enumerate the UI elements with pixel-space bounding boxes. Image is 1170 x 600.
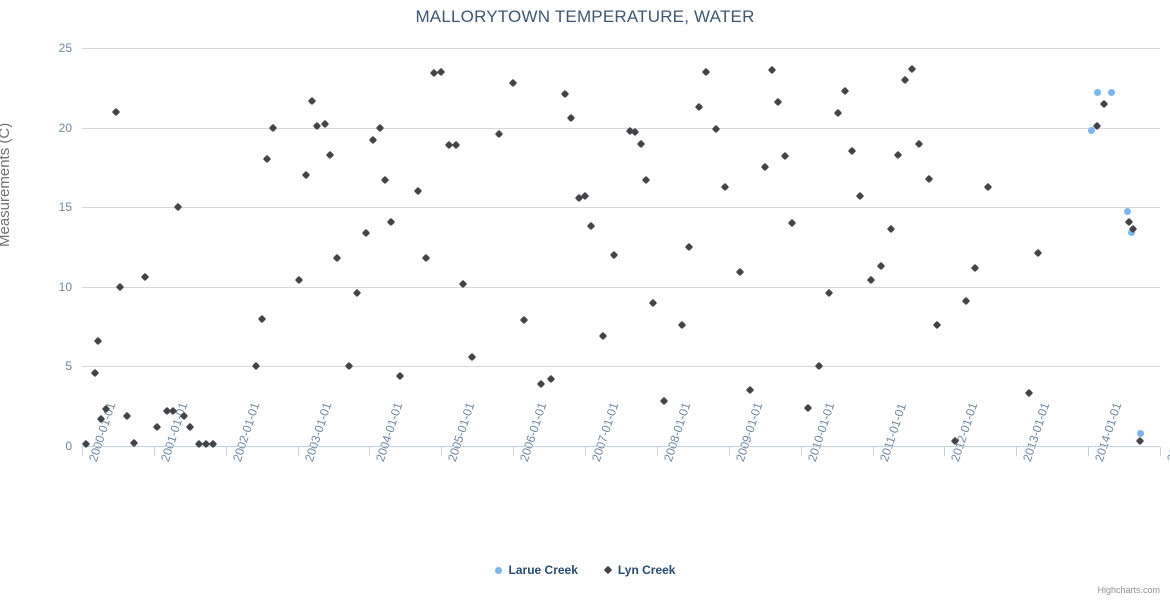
data-point[interactable] (908, 64, 916, 72)
x-tick-mark (513, 447, 514, 456)
data-point[interactable] (102, 405, 110, 413)
data-point[interactable] (186, 423, 194, 431)
data-point[interactable] (1034, 249, 1042, 257)
data-point[interactable] (970, 263, 978, 271)
y-tick-label: 10 (12, 280, 72, 294)
data-point[interactable] (1025, 389, 1033, 397)
data-point[interactable] (788, 219, 796, 227)
data-point[interactable] (1136, 437, 1144, 445)
y-tick-label: 0 (12, 439, 72, 453)
data-point[interactable] (694, 103, 702, 111)
data-point[interactable] (886, 225, 894, 233)
data-point[interactable] (867, 276, 875, 284)
data-point[interactable] (387, 217, 395, 225)
data-point[interactable] (1100, 99, 1108, 107)
data-point[interactable] (933, 321, 941, 329)
data-point[interactable] (437, 68, 445, 76)
x-tick-mark (729, 447, 730, 456)
data-point[interactable] (637, 139, 645, 147)
x-tick-mark (154, 447, 155, 456)
data-point[interactable] (773, 98, 781, 106)
data-point[interactable] (721, 182, 729, 190)
data-point[interactable] (781, 152, 789, 160)
data-point[interactable] (962, 297, 970, 305)
legend-circle-icon (495, 567, 502, 574)
data-point[interactable] (642, 176, 650, 184)
legend-label: Larue Creek (509, 563, 578, 577)
data-point[interactable] (678, 321, 686, 329)
data-point[interactable] (834, 109, 842, 117)
data-point[interactable] (263, 155, 271, 163)
data-point[interactable] (495, 130, 503, 138)
data-point[interactable] (660, 397, 668, 405)
data-point[interactable] (97, 415, 105, 423)
data-point[interactable] (451, 141, 459, 149)
data-point[interactable] (169, 407, 177, 415)
data-point[interactable] (520, 316, 528, 324)
gridline-y-10 (82, 287, 1160, 288)
data-point[interactable] (566, 114, 574, 122)
data-point[interactable] (561, 90, 569, 98)
chart-container: MALLORYTOWN TEMPERATURE, WATER Measureme… (0, 0, 1170, 600)
data-point[interactable] (252, 362, 260, 370)
data-point[interactable] (768, 66, 776, 74)
data-point[interactable] (112, 107, 120, 115)
gridline-y-5 (82, 366, 1160, 367)
data-point[interactable] (467, 353, 475, 361)
y-tick-label: 25 (12, 41, 72, 55)
data-point[interactable] (951, 437, 959, 445)
y-tick-label: 20 (12, 121, 72, 135)
y-tick-label: 15 (12, 200, 72, 214)
data-point[interactable] (814, 362, 822, 370)
data-point[interactable] (395, 372, 403, 380)
x-tick-mark (657, 447, 658, 456)
x-tick-mark (1160, 447, 1161, 456)
data-point[interactable] (1094, 89, 1101, 96)
data-point[interactable] (702, 68, 710, 76)
data-point[interactable] (841, 87, 849, 95)
x-tick-mark (1088, 447, 1089, 456)
data-point[interactable] (414, 187, 422, 195)
data-point[interactable] (375, 123, 383, 131)
data-point[interactable] (804, 404, 812, 412)
data-point[interactable] (1137, 430, 1144, 437)
data-point[interactable] (1124, 208, 1131, 215)
chart-title: MALLORYTOWN TEMPERATURE, WATER (0, 7, 1170, 27)
data-point[interactable] (631, 128, 639, 136)
x-tick-mark (369, 447, 370, 456)
data-point[interactable] (153, 423, 161, 431)
data-point[interactable] (141, 273, 149, 281)
data-point[interactable] (649, 298, 657, 306)
data-point[interactable] (173, 203, 181, 211)
data-point[interactable] (610, 251, 618, 259)
x-tick-mark (226, 447, 227, 456)
legend-item-larue-creek[interactable]: Larue Creek (495, 563, 578, 577)
data-point[interactable] (302, 171, 310, 179)
legend-item-lyn-creek[interactable]: Lyn Creek (604, 563, 676, 577)
y-axis-title: Measurements (C) (0, 123, 13, 247)
data-point[interactable] (587, 222, 595, 230)
data-point[interactable] (333, 254, 341, 262)
data-point[interactable] (901, 76, 909, 84)
gridline-y-25 (82, 48, 1160, 49)
data-point[interactable] (257, 314, 265, 322)
x-tick-mark (441, 447, 442, 456)
data-point[interactable] (915, 139, 923, 147)
data-point[interactable] (746, 386, 754, 394)
data-point[interactable] (421, 254, 429, 262)
data-point[interactable] (295, 276, 303, 284)
data-point[interactable] (685, 243, 693, 251)
data-point[interactable] (91, 369, 99, 377)
legend-label: Lyn Creek (618, 563, 676, 577)
highcharts-credits[interactable]: Highcharts.com (1097, 585, 1160, 595)
data-point[interactable] (209, 440, 217, 448)
data-point[interactable] (369, 136, 377, 144)
x-tick-mark (298, 447, 299, 456)
x-tick-mark (873, 447, 874, 456)
x-tick-mark (82, 447, 83, 456)
data-point[interactable] (180, 412, 188, 420)
y-tick-label: 5 (12, 359, 72, 373)
gridline-y-15 (82, 207, 1160, 208)
gridline-y-20 (82, 128, 1160, 129)
gridline-y-0 (82, 446, 1160, 447)
data-point[interactable] (735, 268, 743, 276)
data-point[interactable] (546, 375, 554, 383)
data-point[interactable] (116, 283, 124, 291)
data-point[interactable] (509, 79, 517, 87)
data-point[interactable] (760, 163, 768, 171)
data-point[interactable] (94, 337, 102, 345)
data-point[interactable] (381, 176, 389, 184)
data-point[interactable] (599, 332, 607, 340)
data-point[interactable] (848, 147, 856, 155)
data-point[interactable] (326, 150, 334, 158)
x-tick-mark (585, 447, 586, 456)
plot-area (82, 48, 1160, 446)
data-point[interactable] (712, 125, 720, 133)
x-tick-mark (1016, 447, 1017, 456)
data-point[interactable] (362, 228, 370, 236)
data-point[interactable] (352, 289, 360, 297)
data-point[interactable] (825, 289, 833, 297)
data-point[interactable] (1108, 89, 1115, 96)
data-point[interactable] (122, 412, 130, 420)
data-point[interactable] (924, 174, 932, 182)
data-point[interactable] (308, 96, 316, 104)
data-point[interactable] (893, 150, 901, 158)
x-tick-mark (801, 447, 802, 456)
x-tick-label: 2015-01-01 (1164, 401, 1170, 464)
data-point[interactable] (855, 192, 863, 200)
data-point[interactable] (983, 182, 991, 190)
x-tick-mark (944, 447, 945, 456)
data-point[interactable] (536, 380, 544, 388)
data-point[interactable] (877, 262, 885, 270)
data-point[interactable] (269, 123, 277, 131)
data-point[interactable] (345, 362, 353, 370)
legend-diamond-icon (604, 566, 612, 574)
chart-legend: Larue CreekLyn Creek (0, 563, 1170, 577)
